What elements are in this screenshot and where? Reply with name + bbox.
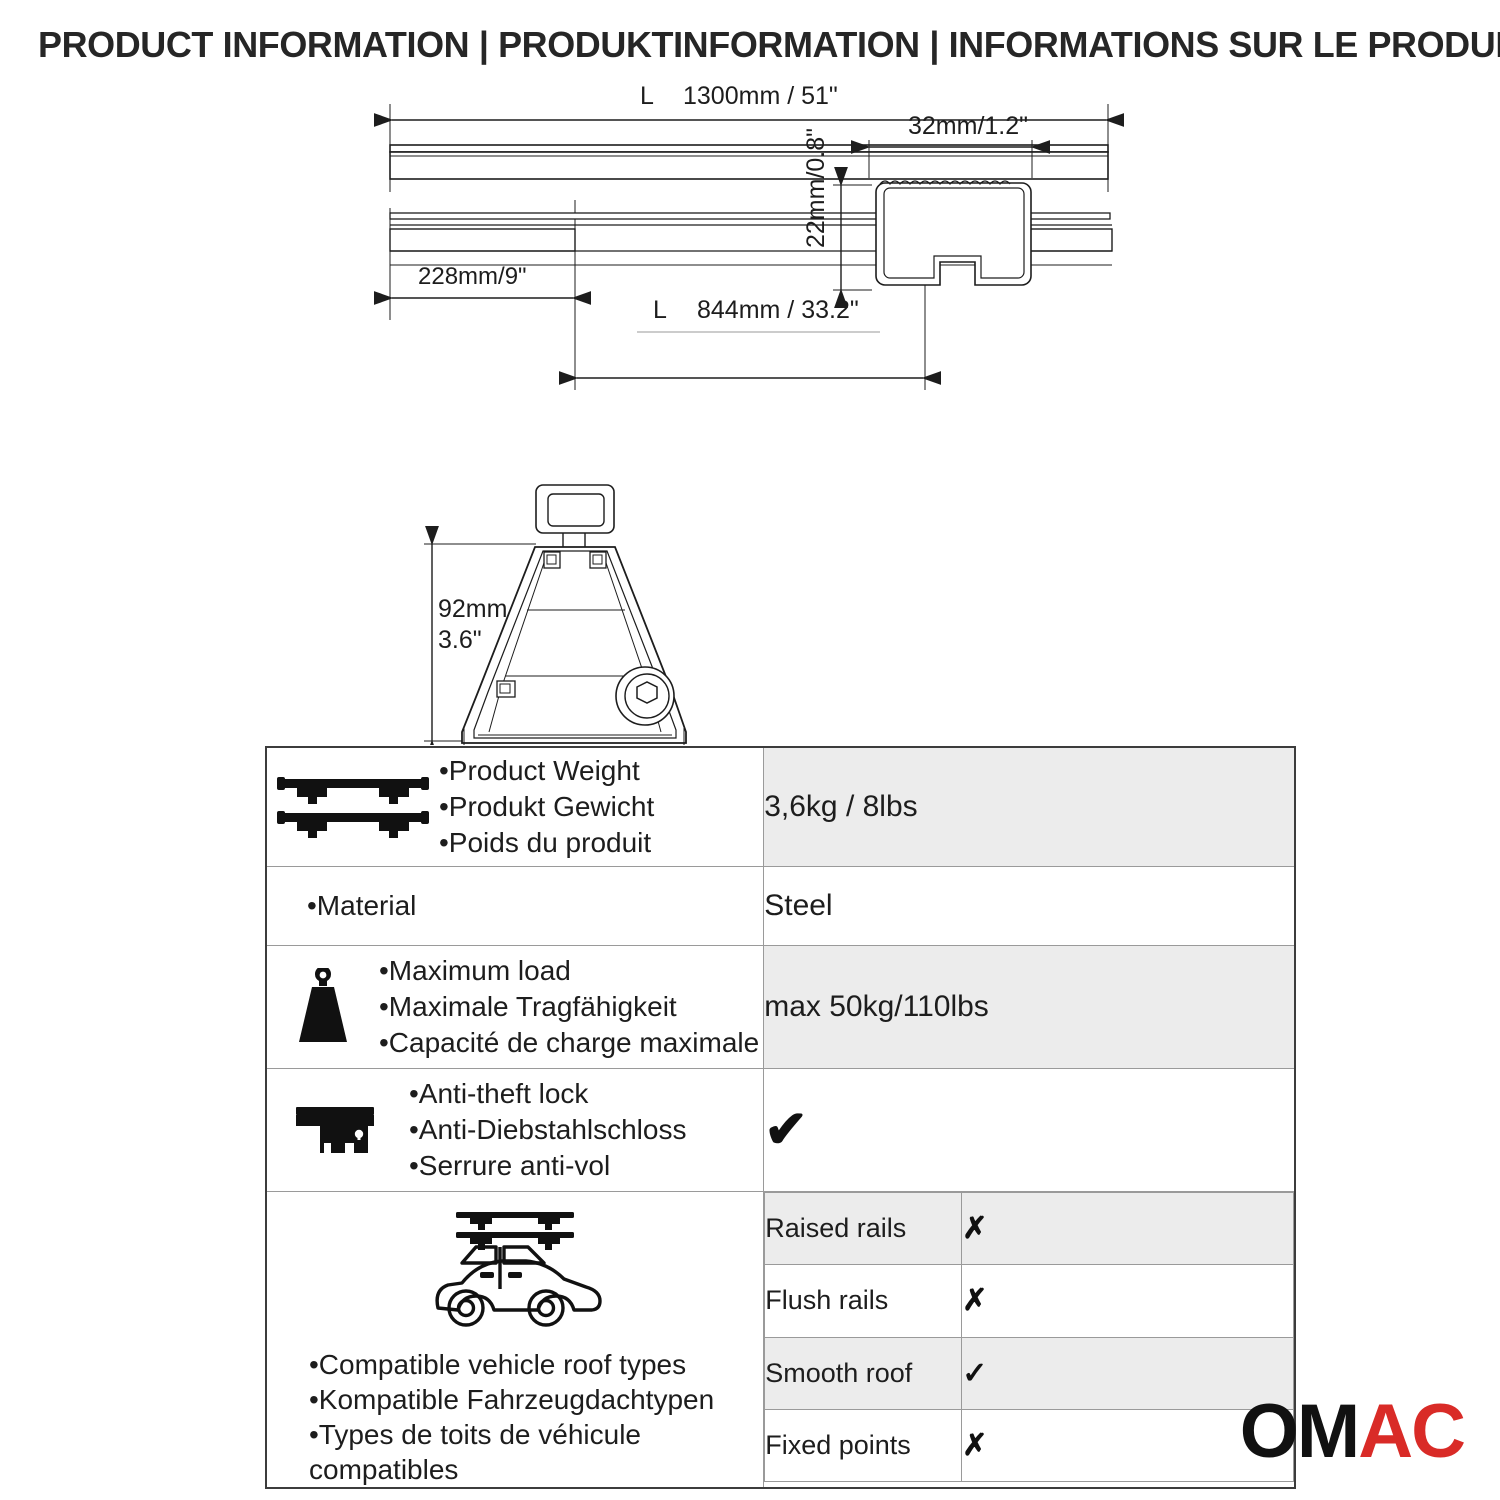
spread-value: 844mm / 33.2": [697, 296, 859, 324]
lock-value: ✔: [764, 1069, 1295, 1192]
material-value: Steel: [764, 867, 1295, 946]
table-row: •Maximum load •Maximale Tragfähigkeit •C…: [266, 946, 1295, 1069]
roof-types-cell: Raised rails ✗ Flush rails ✗ Smooth roof…: [764, 1192, 1295, 1489]
label-line: •Produkt Gewicht: [439, 789, 654, 825]
table-row: •Compatible vehicle roof types •Kompatib…: [266, 1192, 1295, 1489]
crossbars-icon: [267, 773, 439, 841]
logo-text-black: OM: [1240, 1394, 1358, 1470]
lock-labels: •Anti-theft lock •Anti-Diebstahlschloss …: [409, 1076, 690, 1183]
roof-types-table: Raised rails ✗ Flush rails ✗ Smooth roof…: [764, 1192, 1294, 1482]
weight-icon: [267, 968, 379, 1046]
specifications-table: •Product Weight •Produkt Gewicht •Poids …: [265, 746, 1296, 1489]
material-labels: •Material: [307, 888, 420, 924]
profile-width-value: 32mm/1.2": [908, 112, 1028, 140]
check-icon: ✔: [764, 1101, 808, 1159]
compatibility-label-cell: •Compatible vehicle roof types •Kompatib…: [266, 1192, 764, 1489]
table-row: •Product Weight •Produkt Gewicht •Poids …: [266, 747, 1295, 867]
bar-length-l: L: [640, 82, 654, 110]
label-line: •Capacité de charge maximale: [379, 1025, 759, 1061]
roof-type-support: ✗: [962, 1265, 1294, 1337]
omac-logo: OMAC: [1240, 1394, 1464, 1470]
roof-type-name: Raised rails: [765, 1193, 962, 1265]
lock-icon: [267, 1099, 409, 1161]
weight-value: 3,6kg / 8lbs: [764, 747, 1295, 867]
label-line: •Kompatible Fahrzeugdachtypen: [309, 1382, 714, 1417]
compatibility-labels: •Compatible vehicle roof types •Kompatib…: [267, 1347, 714, 1487]
label-line: •Maximum load: [379, 953, 759, 989]
roof-type-row: Fixed points ✗: [765, 1409, 1294, 1481]
bar-length-value: 1300mm / 51": [683, 82, 838, 110]
roof-type-name: Flush rails: [765, 1265, 962, 1337]
weight-label-cell: •Product Weight •Produkt Gewicht •Poids …: [266, 747, 764, 867]
spread-l: L: [653, 296, 667, 324]
profile-height-value: 22mm/0.8": [802, 128, 830, 248]
car-with-crossbars-icon: [422, 1206, 608, 1339]
label-line: •Maximale Tragfähigkeit: [379, 989, 759, 1025]
label-line: •Anti-Diebstahlschloss: [409, 1112, 686, 1148]
roof-type-row: Smooth roof ✓: [765, 1337, 1294, 1409]
roof-type-name: Fixed points: [765, 1409, 962, 1481]
label-line: compatibles: [309, 1452, 714, 1487]
page-title: PRODUCT INFORMATION | PRODUKTINFORMATION…: [38, 24, 1447, 66]
label-line: •Product Weight: [439, 753, 654, 789]
label-line: •Types de toits de véhicule: [309, 1417, 714, 1452]
table-row: •Material Steel: [266, 867, 1295, 946]
roof-type-row: Raised rails ✗: [765, 1193, 1294, 1265]
roof-type-row: Flush rails ✗: [765, 1265, 1294, 1337]
foot-height-mm: 92mm: [438, 595, 507, 623]
roof-type-name: Smooth roof: [765, 1337, 962, 1409]
label-line: •Compatible vehicle roof types: [309, 1347, 714, 1382]
logo-text-red: AC: [1358, 1394, 1464, 1470]
label-line: •Poids du produit: [439, 825, 654, 861]
foot-height-in: 3.6": [438, 626, 482, 654]
maxload-label-cell: •Maximum load •Maximale Tragfähigkeit •C…: [266, 946, 764, 1069]
product-information-sheet: PRODUCT INFORMATION | PRODUKTINFORMATION…: [0, 0, 1500, 1500]
label-line: •Serrure anti-vol: [409, 1148, 686, 1184]
label-line: •Anti-theft lock: [409, 1076, 686, 1112]
maxload-value: max 50kg/110lbs: [764, 946, 1295, 1069]
table-row: •Anti-theft lock •Anti-Diebstahlschloss …: [266, 1069, 1295, 1192]
maxload-labels: •Maximum load •Maximale Tragfähigkeit •C…: [379, 953, 763, 1060]
drawing-svg: L 1300mm / 51" 228mm/9" L 844mm / 33.2" …: [0, 80, 1500, 745]
roof-type-support: ✗: [962, 1193, 1294, 1265]
foot-offset-value: 228mm/9": [418, 263, 527, 290]
label-line: •Material: [307, 888, 416, 924]
material-label-cell: •Material: [266, 867, 764, 946]
technical-drawings: L 1300mm / 51" 228mm/9" L 844mm / 33.2" …: [0, 80, 1500, 745]
weight-labels: •Product Weight •Produkt Gewicht •Poids …: [439, 753, 658, 860]
lock-label-cell: •Anti-theft lock •Anti-Diebstahlschloss …: [266, 1069, 764, 1192]
